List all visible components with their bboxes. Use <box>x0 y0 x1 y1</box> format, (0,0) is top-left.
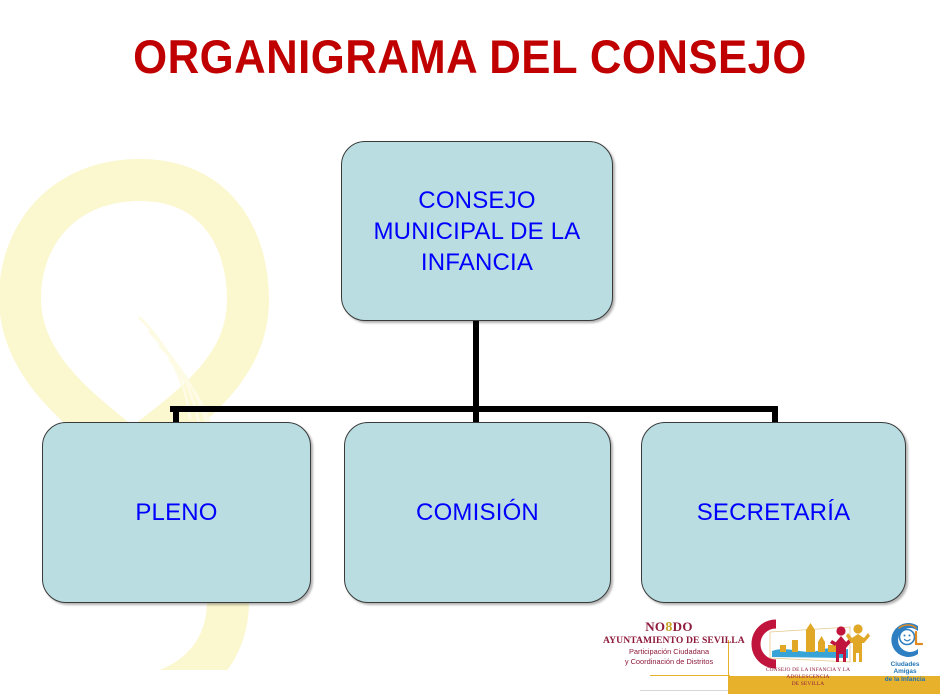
org-node-consejo-municipal[interactable]: CONSEJO MUNICIPAL DE LA INFANCIA <box>341 141 613 321</box>
cai-caption-line3: de la Infancia <box>876 676 934 683</box>
consejo-caption-line2: DE SEVILLA <box>746 681 870 688</box>
ayuntamiento-dept-line1: Participación Ciudadana <box>603 647 735 657</box>
org-node-label: COMISIÓN <box>408 497 547 528</box>
org-node-comision[interactable]: COMISIÓN <box>344 422 611 603</box>
consejo-caption-line1: CONSEJO DE LA INFANCIA Y LA ADOLESCENCIA <box>746 667 870 681</box>
org-node-label: CONSEJO MUNICIPAL DE LA INFANCIA <box>365 185 588 278</box>
ciudades-amigas-caption: Ciudades Amigas de la Infancia <box>876 661 934 683</box>
nodo-text-right: DO <box>673 619 693 634</box>
cai-caption-line2: Amigas <box>876 668 934 675</box>
org-node-label-line2: MUNICIPAL DE LA <box>373 216 580 247</box>
consejo-infancia-caption: CONSEJO DE LA INFANCIA Y LA ADOLESCENCIA… <box>746 667 870 687</box>
page-title: ORGANIGRAMA DEL CONSEJO <box>33 28 907 86</box>
org-node-label: SECRETARÍA <box>689 497 859 528</box>
nodo-text-left: NO <box>645 619 665 634</box>
org-node-label: PLENO <box>127 497 225 528</box>
slide-canvas: ORGANIGRAMA DEL CONSEJO CONSEJO MUNICIPA… <box>0 0 940 694</box>
footer-gold-rule-horizontal <box>650 675 730 676</box>
ciudades-amigas-logo <box>878 618 930 667</box>
cai-caption-line1: Ciudades <box>876 661 934 668</box>
connector-root-to-bus <box>473 318 479 412</box>
org-node-secretaria[interactable]: SECRETARÍA <box>641 422 906 603</box>
org-node-label-line1: CONSEJO <box>373 185 580 216</box>
ayuntamiento-dept-line2: y Coordinación de Distritos <box>603 657 735 667</box>
ayuntamiento-city-line: AYUNTAMIENTO DE SEVILLA <box>603 635 735 647</box>
org-node-pleno[interactable]: PLENO <box>42 422 311 603</box>
ayuntamiento-sevilla-logo: NO8DO AYUNTAMIENTO DE SEVILLA Participac… <box>603 620 735 666</box>
footer-grey-rule <box>640 690 730 691</box>
nodo-wordmark: NO8DO <box>603 620 735 635</box>
nodo-knot-icon: 8 <box>665 620 672 635</box>
org-node-label-line3: INFANCIA <box>373 247 580 278</box>
